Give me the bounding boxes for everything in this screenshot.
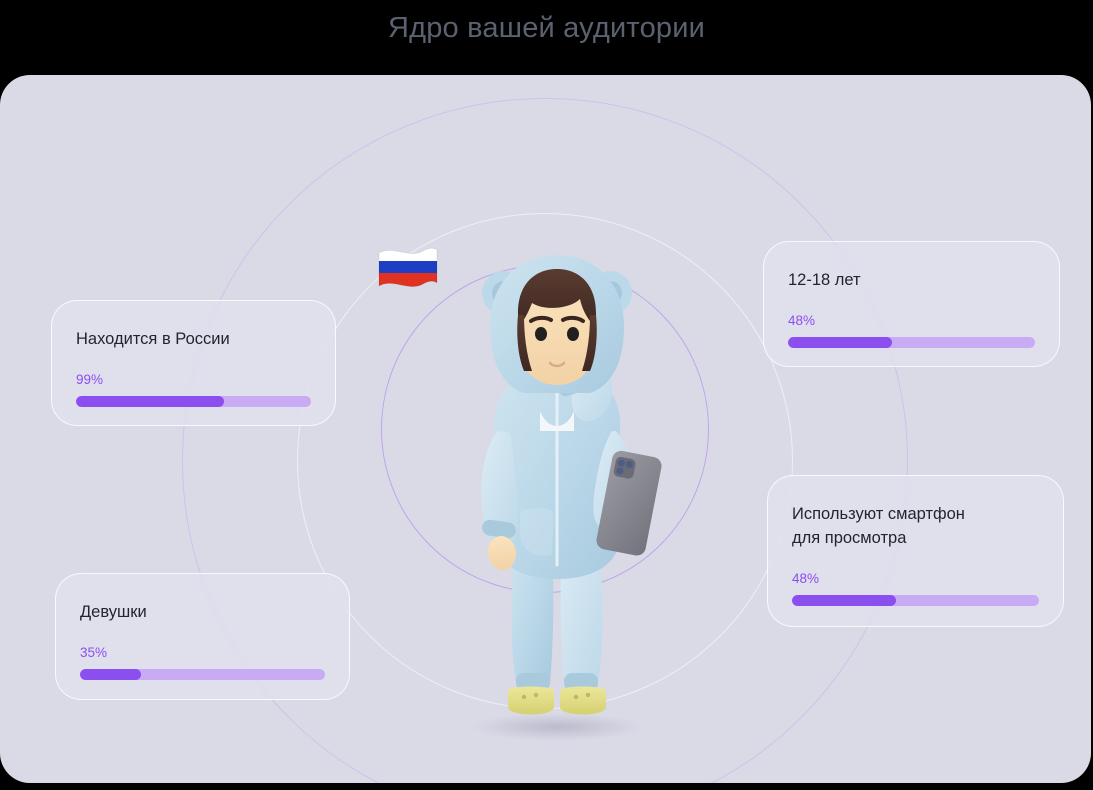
progress-fill — [76, 396, 224, 407]
progress-track — [76, 396, 311, 407]
stat-card-title: Используют смартфон для просмотра — [792, 502, 1039, 550]
stat-card-smartphone[interactable]: Используют смартфон для просмотра 48% — [767, 475, 1064, 627]
progress-track — [80, 669, 325, 680]
progress-track — [788, 337, 1035, 348]
stat-card-percent: 99% — [76, 372, 311, 387]
stat-card-russia[interactable]: Находится в России 99% — [51, 300, 336, 426]
stat-card-title: 12-18 лет — [788, 268, 1035, 292]
stat-card-percent: 48% — [788, 313, 1035, 328]
progress-track — [792, 595, 1039, 606]
stat-card-title: Девушки — [80, 600, 325, 624]
progress-fill — [80, 669, 141, 680]
stat-card-percent: 35% — [80, 645, 325, 660]
stat-card-girls[interactable]: Девушки 35% — [55, 573, 350, 700]
progress-fill — [792, 595, 896, 606]
stat-card-age[interactable]: 12-18 лет 48% — [763, 241, 1060, 367]
stat-card-title: Находится в России — [76, 327, 311, 351]
screenshot-root: Ядро вашей аудитории — [0, 0, 1093, 790]
character-illustration — [432, 235, 682, 740]
stat-card-percent: 48% — [792, 571, 1039, 586]
progress-fill — [788, 337, 892, 348]
audience-panel: Находится в России 99% 12-18 лет 48% Исп… — [0, 75, 1091, 783]
page-title: Ядро вашей аудитории — [0, 8, 1093, 48]
